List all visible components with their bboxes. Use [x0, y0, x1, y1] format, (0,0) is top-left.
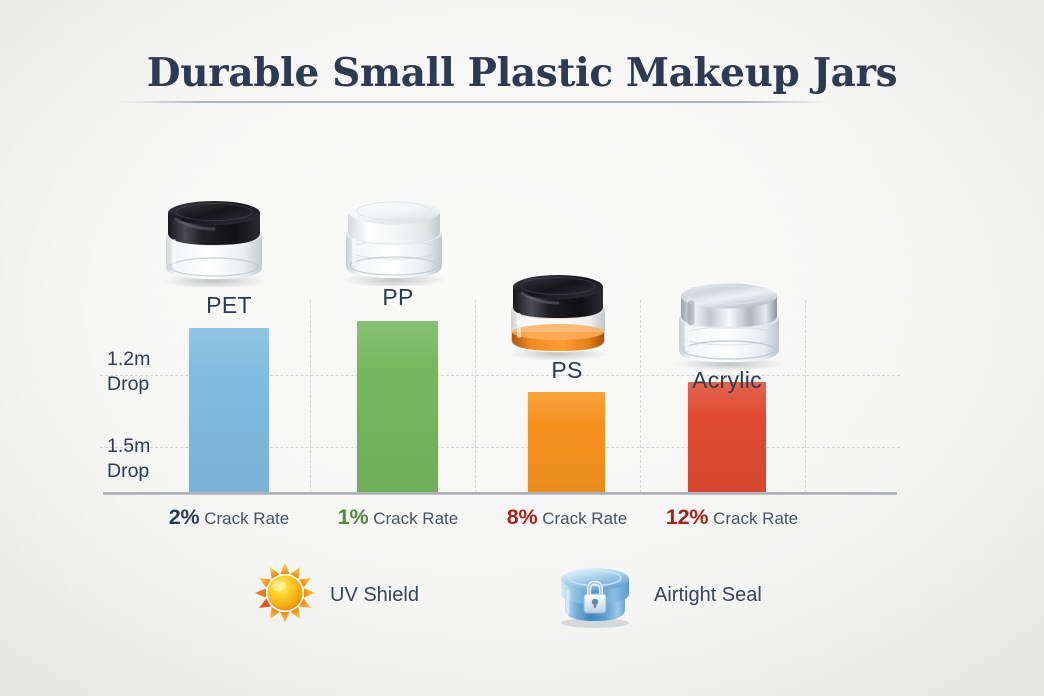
y-axis-tick-1-value: 1.2m	[107, 347, 150, 372]
crack-rate-caption-pet: Crack Rate	[204, 509, 289, 528]
crack-rate-caption-acrylic: Crack Rate	[713, 509, 798, 528]
gridline-vertical-2	[475, 300, 476, 493]
annotation-crack-rate-ps: 8% Crack Rate	[497, 505, 637, 530]
bar-pp[interactable]	[357, 321, 438, 493]
axis-baseline	[103, 492, 897, 495]
y-axis-tick-2-caption: Drop	[107, 459, 150, 484]
y-axis-tick-1-caption: Drop	[107, 372, 150, 397]
category-label-pp: PP	[328, 284, 468, 311]
category-label-acrylic: Acrylic	[657, 367, 797, 394]
legend-item-airtight-seal[interactable]: Airtight Seal	[548, 557, 762, 634]
infographic-canvas: Durable Small Plastic Makeup Jars 1.2m D…	[0, 0, 1044, 696]
y-axis-tick-2: 1.5m Drop	[107, 434, 150, 484]
crack-rate-value-pet: 2%	[169, 505, 200, 529]
annotation-crack-rate-acrylic: 12% Crack Rate	[657, 505, 807, 530]
bar-acrylic[interactable]	[688, 382, 766, 493]
annotation-crack-rate-pet: 2% Crack Rate	[159, 505, 299, 530]
bar-pet[interactable]	[189, 328, 269, 493]
gridline-vertical-1	[310, 300, 311, 493]
legend-item-uv-shield[interactable]: UV Shield	[252, 560, 419, 631]
crack-rate-caption-ps: Crack Rate	[542, 509, 627, 528]
y-axis-tick-2-value: 1.5m	[107, 434, 150, 459]
gridline-vertical-4	[805, 300, 806, 493]
jar-image-pp	[333, 190, 455, 286]
crack-rate-value-acrylic: 12%	[666, 505, 708, 529]
jar-image-pet	[152, 191, 276, 287]
y-axis-tick-1: 1.2m Drop	[107, 347, 150, 397]
gridline-vertical-3	[640, 300, 641, 493]
bar-chart: 1.2m Drop 1.5m Drop PET PP PS Acrylic 2%…	[0, 0, 1044, 696]
annotation-crack-rate-pp: 1% Crack Rate	[328, 505, 468, 530]
legend-label-uv-shield: UV Shield	[330, 584, 419, 607]
category-label-pet: PET	[159, 292, 299, 319]
legend-label-airtight-seal: Airtight Seal	[654, 584, 762, 607]
jar-image-ps	[499, 266, 617, 360]
bar-ps[interactable]	[528, 392, 605, 493]
crack-rate-value-pp: 1%	[338, 505, 369, 529]
jar-image-acrylic	[665, 274, 793, 370]
category-label-ps: PS	[497, 357, 637, 384]
crack-rate-value-ps: 8%	[507, 505, 538, 529]
locked-jar-icon	[548, 557, 642, 634]
crack-rate-caption-pp: Crack Rate	[373, 509, 458, 528]
sun-icon	[252, 560, 318, 631]
